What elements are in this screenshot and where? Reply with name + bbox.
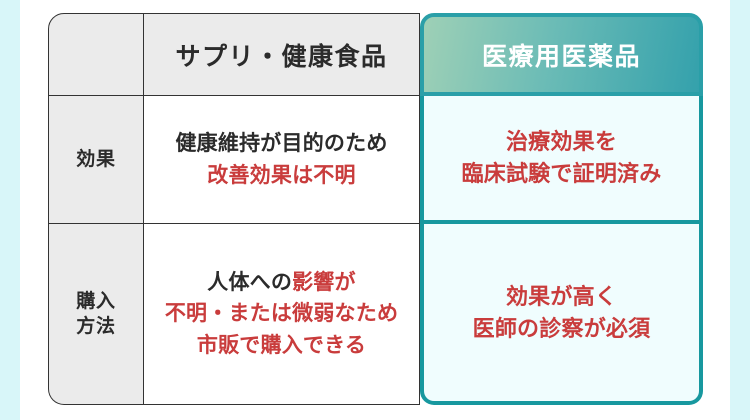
row-label-line: 方法	[49, 314, 143, 340]
header-supplement-column: サプリ・健康食品	[144, 13, 420, 96]
cell-text-line: 市販で購入できる	[144, 330, 419, 362]
cell-text-line: 人体への影響が	[144, 267, 419, 299]
header-prescription-column: 医療用医薬品	[420, 13, 703, 96]
cell-text-line: 効果が高く	[424, 281, 699, 313]
cell-effect-prescription: 治療効果を 臨床試験で証明済み	[420, 96, 703, 224]
cell-text-segment-accent: 影響が	[292, 271, 356, 294]
page-stripe-right	[730, 0, 750, 420]
table-row: 購入 方法 人体への影響が 不明・または微弱なため 市販で購入できる 効果が高く…	[48, 224, 703, 405]
cell-text-line: 治療効果を	[424, 126, 699, 158]
table-header-row: サプリ・健康食品 医療用医薬品	[48, 13, 703, 96]
cell-text-line: 健康維持が目的のため	[144, 128, 419, 160]
cell-effect-supplement: 健康維持が目的のため 改善効果は不明	[144, 96, 420, 224]
comparison-table-container: サプリ・健康食品 医療用医薬品 効果 健康維持が目的のため 改善効果は不明 治療…	[48, 13, 703, 405]
cell-text-line: 臨床試験で証明済み	[424, 158, 699, 190]
cell-text-line: 医師の診察が必須	[424, 313, 699, 345]
row-label-effect: 効果	[48, 96, 144, 224]
cell-text-line: 改善効果は不明	[144, 160, 419, 192]
row-label-purchase: 購入 方法	[48, 224, 144, 405]
row-label-line: 購入	[49, 289, 143, 315]
cell-purchase-supplement: 人体への影響が 不明・または微弱なため 市販で購入できる	[144, 224, 420, 405]
cell-purchase-prescription: 効果が高く 医師の診察が必須	[420, 224, 703, 405]
cell-text-segment: 人体への	[207, 271, 292, 294]
comparison-table: サプリ・健康食品 医療用医薬品 効果 健康維持が目的のため 改善効果は不明 治療…	[48, 13, 703, 405]
header-corner-cell	[48, 13, 144, 96]
page-stripe-left	[0, 0, 20, 420]
table-row: 効果 健康維持が目的のため 改善効果は不明 治療効果を 臨床試験で証明済み	[48, 96, 703, 224]
cell-text-line: 不明・または微弱なため	[144, 298, 419, 330]
